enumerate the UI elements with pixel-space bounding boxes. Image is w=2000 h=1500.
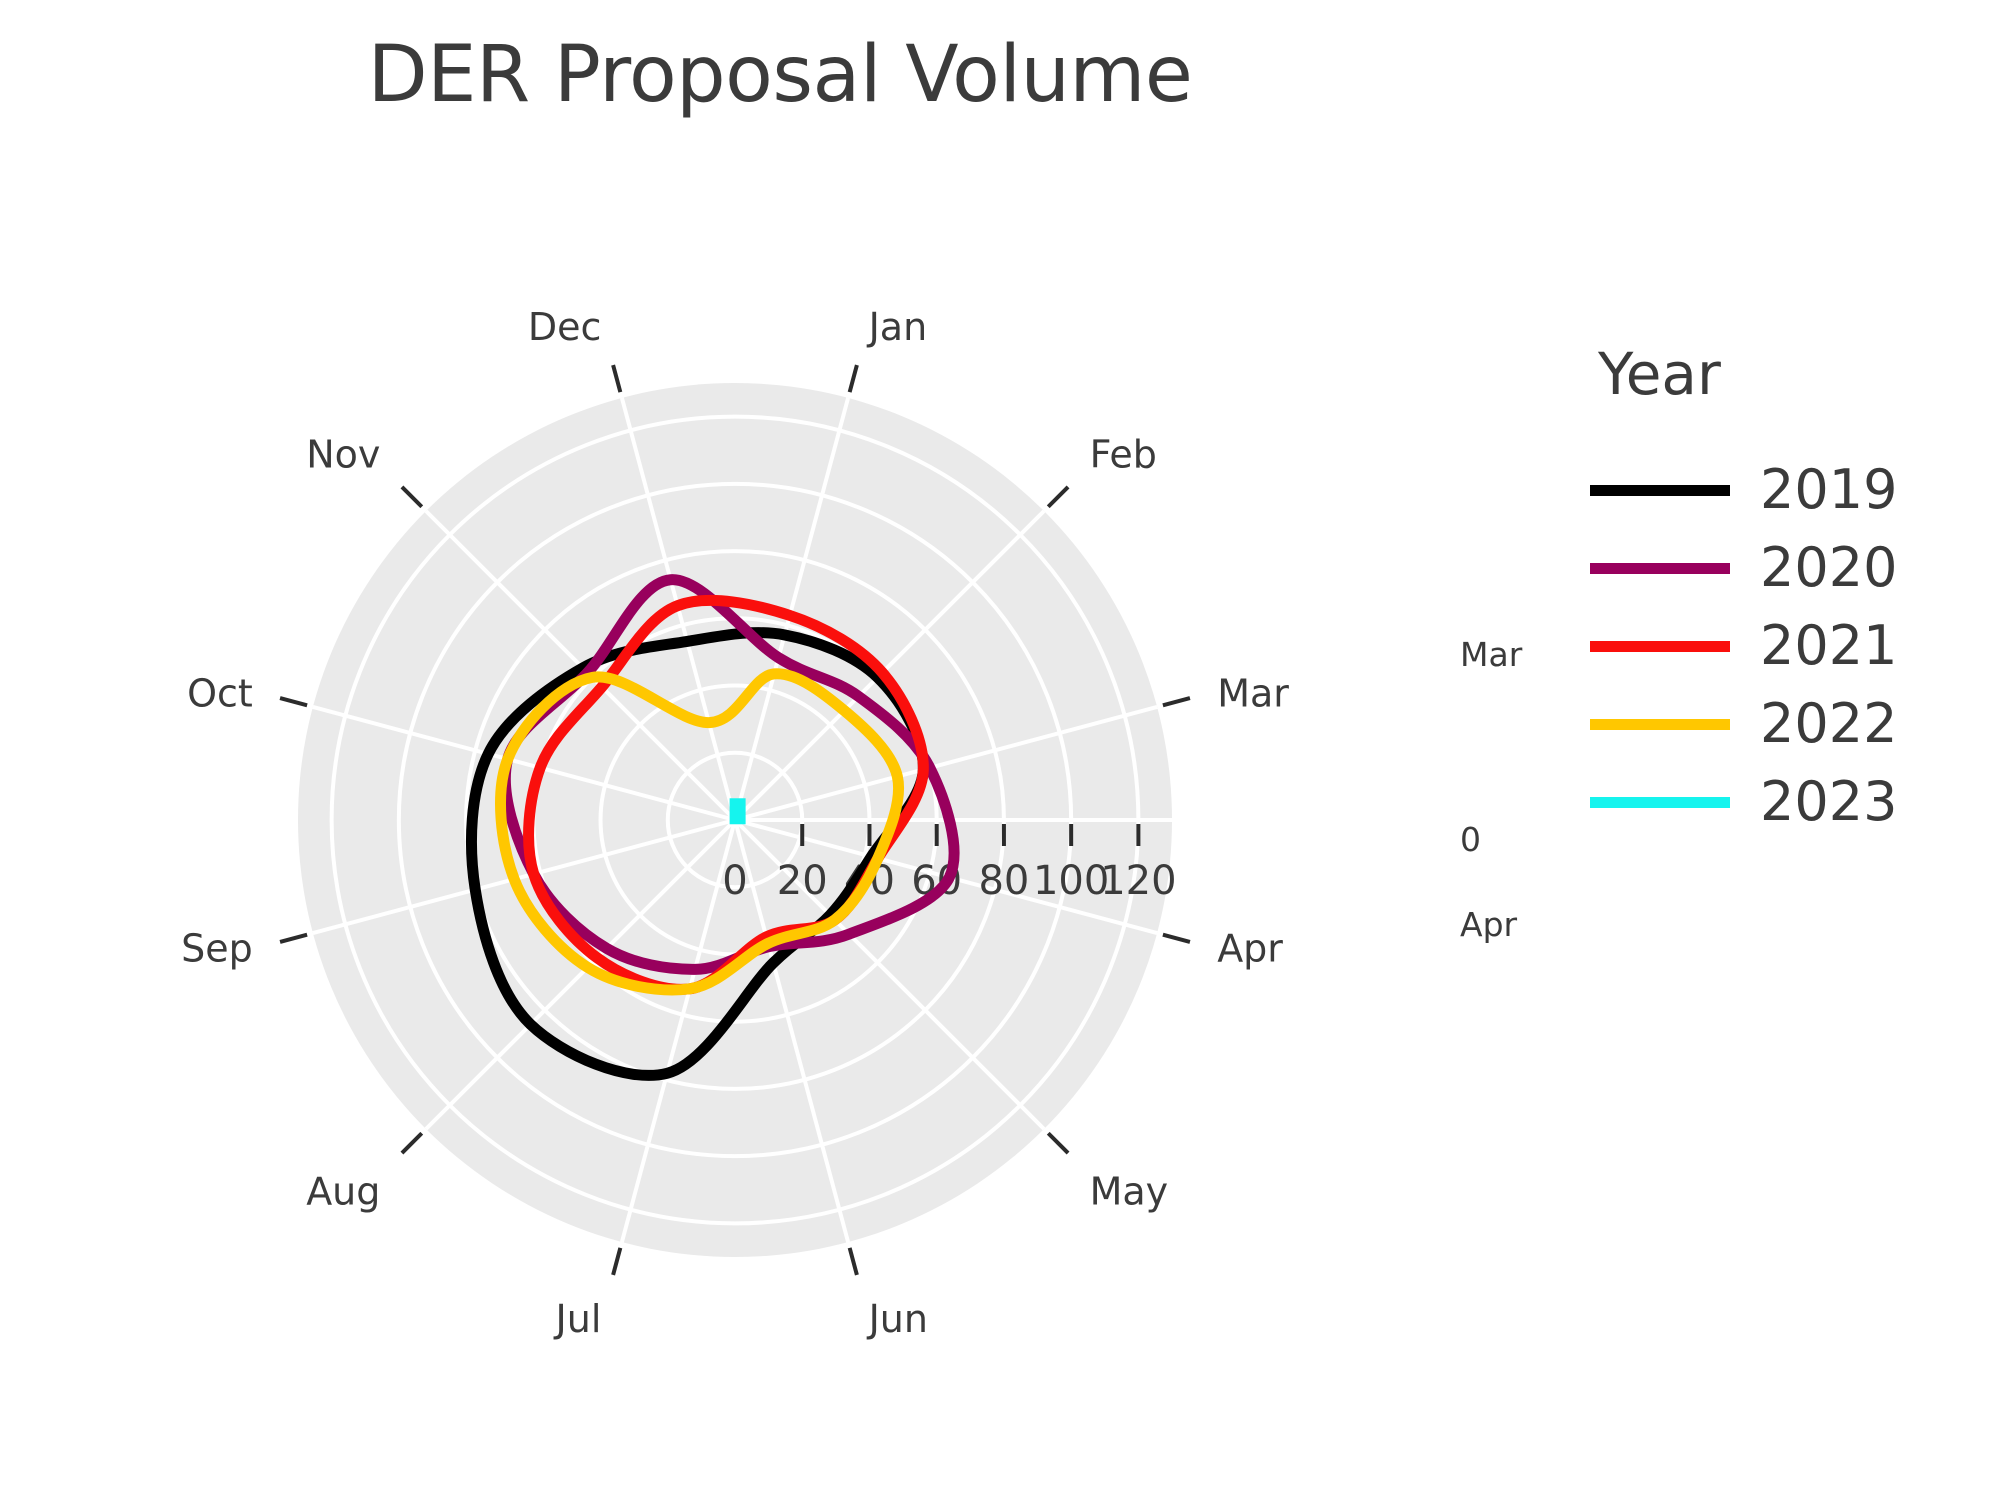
legend-swatch-2023 [1590,797,1730,808]
orphan-axis-label-apr: Apr [1460,905,1517,944]
legend-item-2021[interactable]: 2021 [1590,607,1980,685]
angular-tickmark-Sep [280,935,307,942]
angular-tickmark-Feb [1048,487,1068,507]
radial-tick-label-0: 0 [722,858,747,904]
angular-tickmark-Apr [1163,935,1190,942]
orphan-axis-label-mar: Mar [1460,635,1522,674]
legend-label-2021: 2021 [1760,619,1897,673]
month-label-Jun: Jun [867,1297,928,1341]
radial-tick-label-20: 20 [777,858,828,904]
legend-item-2020[interactable]: 2020 [1590,529,1980,607]
month-label-Oct: Oct [187,671,253,715]
legend-title: Year [1598,345,1980,403]
radial-tick-label-100: 100 [1033,858,1109,904]
month-label-Sep: Sep [181,927,253,971]
legend-label-2023: 2023 [1760,775,1897,829]
legend-swatch-2022 [1590,719,1730,730]
legend-swatch-2019 [1590,485,1730,496]
month-label-Apr: Apr [1217,927,1283,971]
month-label-Aug: Aug [306,1170,380,1214]
angular-tickmark-Jan [850,365,857,392]
month-label-Dec: Dec [528,305,602,349]
radial-tick-label-80: 80 [978,858,1029,904]
angular-tickmark-Nov [402,487,422,507]
angular-tickmark-Dec [613,365,620,392]
angular-tickmark-Mar [1163,698,1190,705]
legend-swatch-2021 [1590,641,1730,652]
legend-label-2020: 2020 [1760,541,1897,595]
legend-swatch-2020 [1590,563,1730,574]
legend-label-2022: 2022 [1760,697,1897,751]
angular-tickmark-Aug [402,1133,422,1153]
angular-tickmark-Jul [613,1248,620,1275]
radial-tick-label-120: 120 [1100,858,1176,904]
angular-tickmark-May [1048,1133,1068,1153]
legend: Year 20192020202120222023 [1590,345,1980,841]
legend-items: 20192020202120222023 [1590,451,1980,841]
polar-chart: JanFebMarAprMayJunJulAugSepOctNovDec0204… [0,0,1560,1500]
month-label-Nov: Nov [306,432,380,476]
angular-tickmark-Oct [280,698,307,705]
legend-label-2019: 2019 [1760,463,1897,517]
month-label-Feb: Feb [1090,432,1157,476]
legend-item-2019[interactable]: 2019 [1590,451,1980,529]
series-marker-2023 [730,798,746,824]
chart-root: DER Proposal Volume JanFebMarAprMayJunJu… [0,0,2000,1500]
orphan-axis-label-zero: 0 [1460,820,1481,859]
angular-tickmark-Jun [850,1248,857,1275]
month-label-Jul: Jul [554,1297,602,1341]
legend-item-2022[interactable]: 2022 [1590,685,1980,763]
month-label-May: May [1090,1170,1169,1214]
month-label-Mar: Mar [1217,671,1289,715]
month-label-Jan: Jan [867,305,928,349]
legend-item-2023[interactable]: 2023 [1590,763,1980,841]
